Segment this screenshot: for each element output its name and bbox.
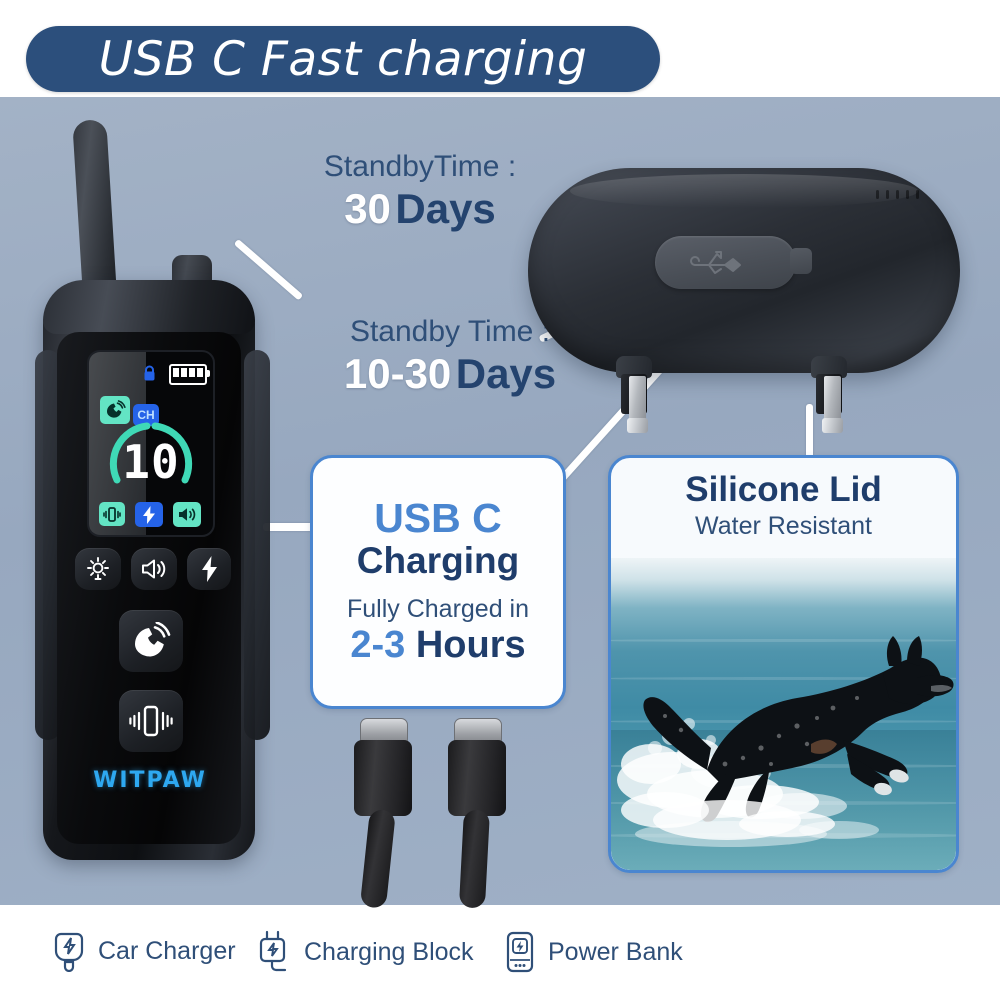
car-charger-icon (52, 930, 86, 972)
dog-in-water-photo (611, 558, 956, 870)
remote-shoulder (43, 280, 255, 334)
accessory-charging-block: Charging Block (256, 930, 474, 974)
battery-icon (169, 364, 207, 385)
callout-unit: Days (395, 185, 495, 232)
beep-speaker-button[interactable] (131, 548, 177, 590)
lock-icon (143, 365, 156, 381)
usbc-detail-value: 2-3 Hours (350, 624, 525, 667)
accessory-label: Charging Block (304, 938, 474, 967)
usbc-subtitle: Charging (357, 541, 519, 582)
call-tone-button[interactable] (119, 610, 183, 672)
callout-label: StandbyTime : (270, 150, 570, 183)
silicone-lid-card: Silicone Lid Water Resistant (608, 455, 959, 873)
callout-number: 30 (344, 185, 391, 232)
accessories-row: Car Charger Charging Block Power Bank (0, 920, 1000, 990)
receiver-highlight (570, 174, 918, 208)
usbc-title: USB C (374, 497, 502, 540)
speaker-vents (876, 190, 922, 200)
collar-receiver-device (528, 168, 960, 433)
infographic-canvas: USB C Fast charging StandbyTime : 30 Day… (0, 0, 1000, 1000)
level-gauge: 10 (107, 418, 195, 506)
accessory-label: Car Charger (98, 937, 236, 966)
lid-subtitle: Water Resistant (611, 511, 956, 541)
vibrate-icon (99, 502, 125, 526)
side-grip-right (244, 350, 270, 740)
dog-silhouette (611, 558, 956, 870)
accessory-car-charger: Car Charger (52, 930, 236, 972)
header-banner: USB C Fast charging (26, 26, 660, 92)
vibration-button[interactable] (119, 690, 183, 752)
flap-pull-tab[interactable] (790, 248, 812, 274)
light-button[interactable] (75, 548, 121, 590)
callout-value: 30 Days (270, 185, 570, 232)
intensity-level: 10 (107, 418, 195, 506)
remote-control-device: CH 10 (35, 120, 270, 860)
charging-block-icon (256, 930, 292, 974)
power-bank-icon (504, 930, 536, 974)
accessory-power-bank: Power Bank (504, 930, 683, 974)
usbc-hours-number: 2-3 (350, 624, 405, 666)
usbc-hours-unit: Hours (416, 624, 526, 666)
usb-c-cable (330, 718, 600, 908)
leader-line-remote-usbc (263, 523, 315, 531)
silicone-lid-flap[interactable] (655, 236, 796, 289)
brand-logo: WITPAW (75, 768, 225, 793)
lcd-screen: CH 10 (87, 350, 215, 537)
shock-bolt-icon (135, 502, 163, 527)
lid-title: Silicone Lid (611, 472, 956, 509)
usbc-detail-label: Fully Charged in (347, 595, 529, 624)
speaker-icon (173, 502, 201, 527)
page-title: USB C Fast charging (99, 36, 588, 83)
callout-standby-remote: StandbyTime : 30 Days (270, 150, 570, 232)
accessory-label: Power Bank (548, 938, 683, 967)
callout-number: 10-30 (344, 350, 451, 397)
shock-bolt-button[interactable] (187, 548, 231, 590)
usb-c-charging-card: USB C Charging Fully Charged in 2-3 Hour… (310, 455, 566, 709)
